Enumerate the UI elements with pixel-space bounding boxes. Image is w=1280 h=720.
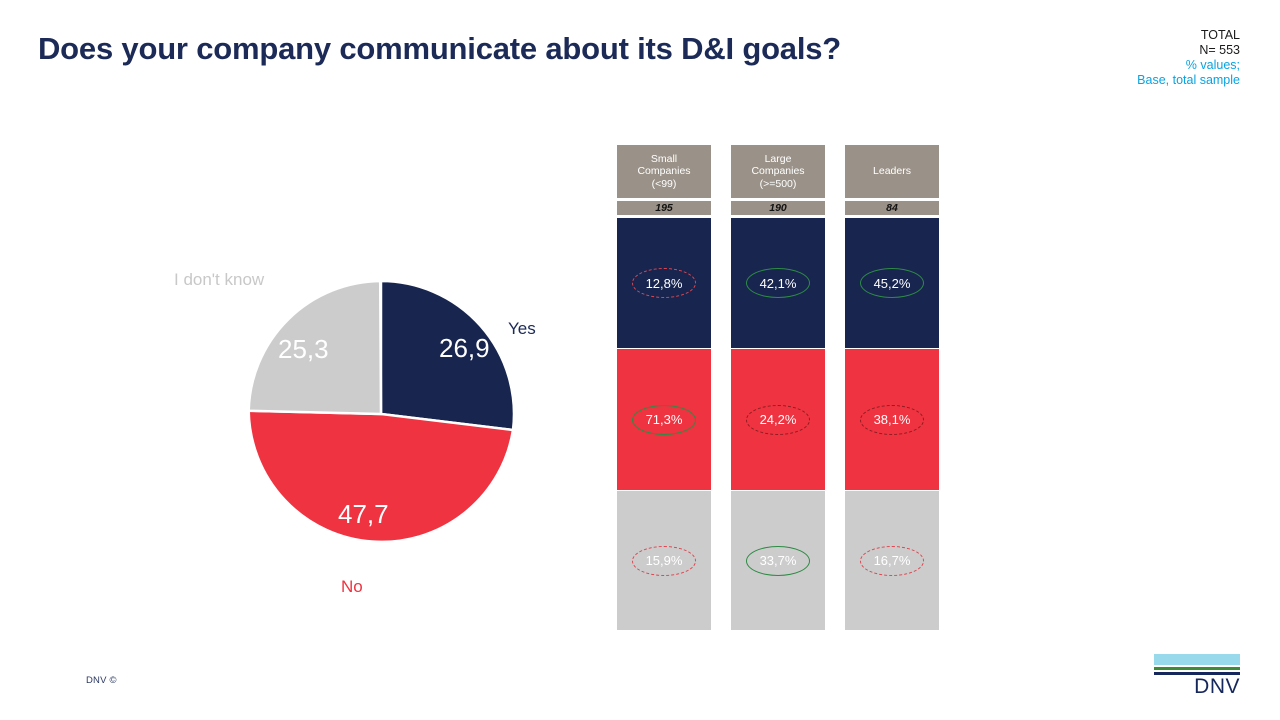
column-base-small-companies: 195 <box>617 201 711 215</box>
pie-label-no: No <box>341 577 363 597</box>
column-large-companies: Large Companies (>=500) 190 42,1% 24,2% <box>731 145 825 630</box>
base-note: % values; Base, total sample <box>1137 58 1240 88</box>
total-label: TOTAL <box>1137 28 1240 43</box>
segment-idk-large-companies: 33,7% <box>731 491 825 630</box>
logo-bar-lightblue <box>1154 654 1240 665</box>
value-label: 15,9% <box>646 553 683 568</box>
segment-idk-leaders: 16,7% <box>845 491 939 630</box>
pie-label-yes: Yes <box>508 319 536 339</box>
column-base-large-companies: 190 <box>731 201 825 215</box>
column-header-leaders: Leaders <box>845 145 939 198</box>
dnv-logo: DNV <box>1154 654 1240 698</box>
column-header-large-companies: Large Companies (>=500) <box>731 145 825 198</box>
value-bubble-idk-large: 33,7% <box>746 546 810 576</box>
column-header-line-2: Companies <box>751 165 804 177</box>
slide-canvas: Does your company communicate about its … <box>0 0 1280 720</box>
pie-value-idk: 25,3 <box>278 334 329 365</box>
column-small-companies: Small Companies (<99) 195 12,8% 71,3% <box>617 145 711 630</box>
column-header-line-1: Small <box>651 153 677 165</box>
column-base-leaders: 84 <box>845 201 939 215</box>
value-label: 38,1% <box>874 412 911 427</box>
segment-no-small-companies: 71,3% <box>617 349 711 490</box>
pie-value-yes: 26,9 <box>439 333 490 364</box>
value-bubble-yes-small: 12,8% <box>632 268 696 298</box>
value-label: 12,8% <box>646 276 683 291</box>
segment-idk-small-companies: 15,9% <box>617 491 711 630</box>
value-label: 42,1% <box>760 276 797 291</box>
column-header-line-3: (<99) <box>652 178 677 190</box>
column-header-line-1: Large <box>765 153 792 165</box>
value-bubble-yes-leaders: 45,2% <box>860 268 924 298</box>
total-n-value: N= 553 <box>1137 43 1240 58</box>
logo-text: DNV <box>1154 676 1240 698</box>
column-header-small-companies: Small Companies (<99) <box>617 145 711 198</box>
page-title: Does your company communicate about its … <box>38 31 841 67</box>
column-header-line-2: Companies <box>637 165 690 177</box>
segment-no-leaders: 38,1% <box>845 349 939 490</box>
value-bubble-idk-small: 15,9% <box>632 546 696 576</box>
segment-no-large-companies: 24,2% <box>731 349 825 490</box>
total-base-block: TOTAL N= 553 % values; Base, total sampl… <box>1137 28 1240 88</box>
value-bubble-no-leaders: 38,1% <box>860 405 924 435</box>
value-bubble-no-large: 24,2% <box>746 405 810 435</box>
value-bubble-no-small: 71,3% <box>632 405 696 435</box>
column-leaders: Leaders 84 45,2% 38,1% 16,7% <box>845 145 939 630</box>
column-header-line-1: Leaders <box>873 165 911 178</box>
base-note-line2: Base, total sample <box>1137 73 1240 88</box>
segment-yes-large-companies: 42,1% <box>731 218 825 348</box>
segment-yes-small-companies: 12,8% <box>617 218 711 348</box>
segment-yes-leaders: 45,2% <box>845 218 939 348</box>
column-header-line-3: (>=500) <box>760 178 797 190</box>
value-label: 71,3% <box>646 412 683 427</box>
footer-copyright: DNV © <box>86 675 117 686</box>
pie-label-idont-know: I don't know <box>174 270 264 290</box>
value-bubble-yes-large: 42,1% <box>746 268 810 298</box>
value-label: 33,7% <box>760 553 797 568</box>
pie-value-no: 47,7 <box>338 499 389 530</box>
value-label: 45,2% <box>874 276 911 291</box>
pie-chart: 26,9 47,7 25,3 Yes No I don't know <box>160 258 590 618</box>
segment-column-chart: Small Companies (<99) 195 12,8% 71,3% <box>617 145 947 635</box>
logo-bar-green <box>1154 667 1240 670</box>
value-label: 16,7% <box>874 553 911 568</box>
value-label: 24,2% <box>760 412 797 427</box>
pie-chart-svg <box>160 258 590 618</box>
value-bubble-idk-leaders: 16,7% <box>860 546 924 576</box>
base-note-line1: % values; <box>1137 58 1240 73</box>
